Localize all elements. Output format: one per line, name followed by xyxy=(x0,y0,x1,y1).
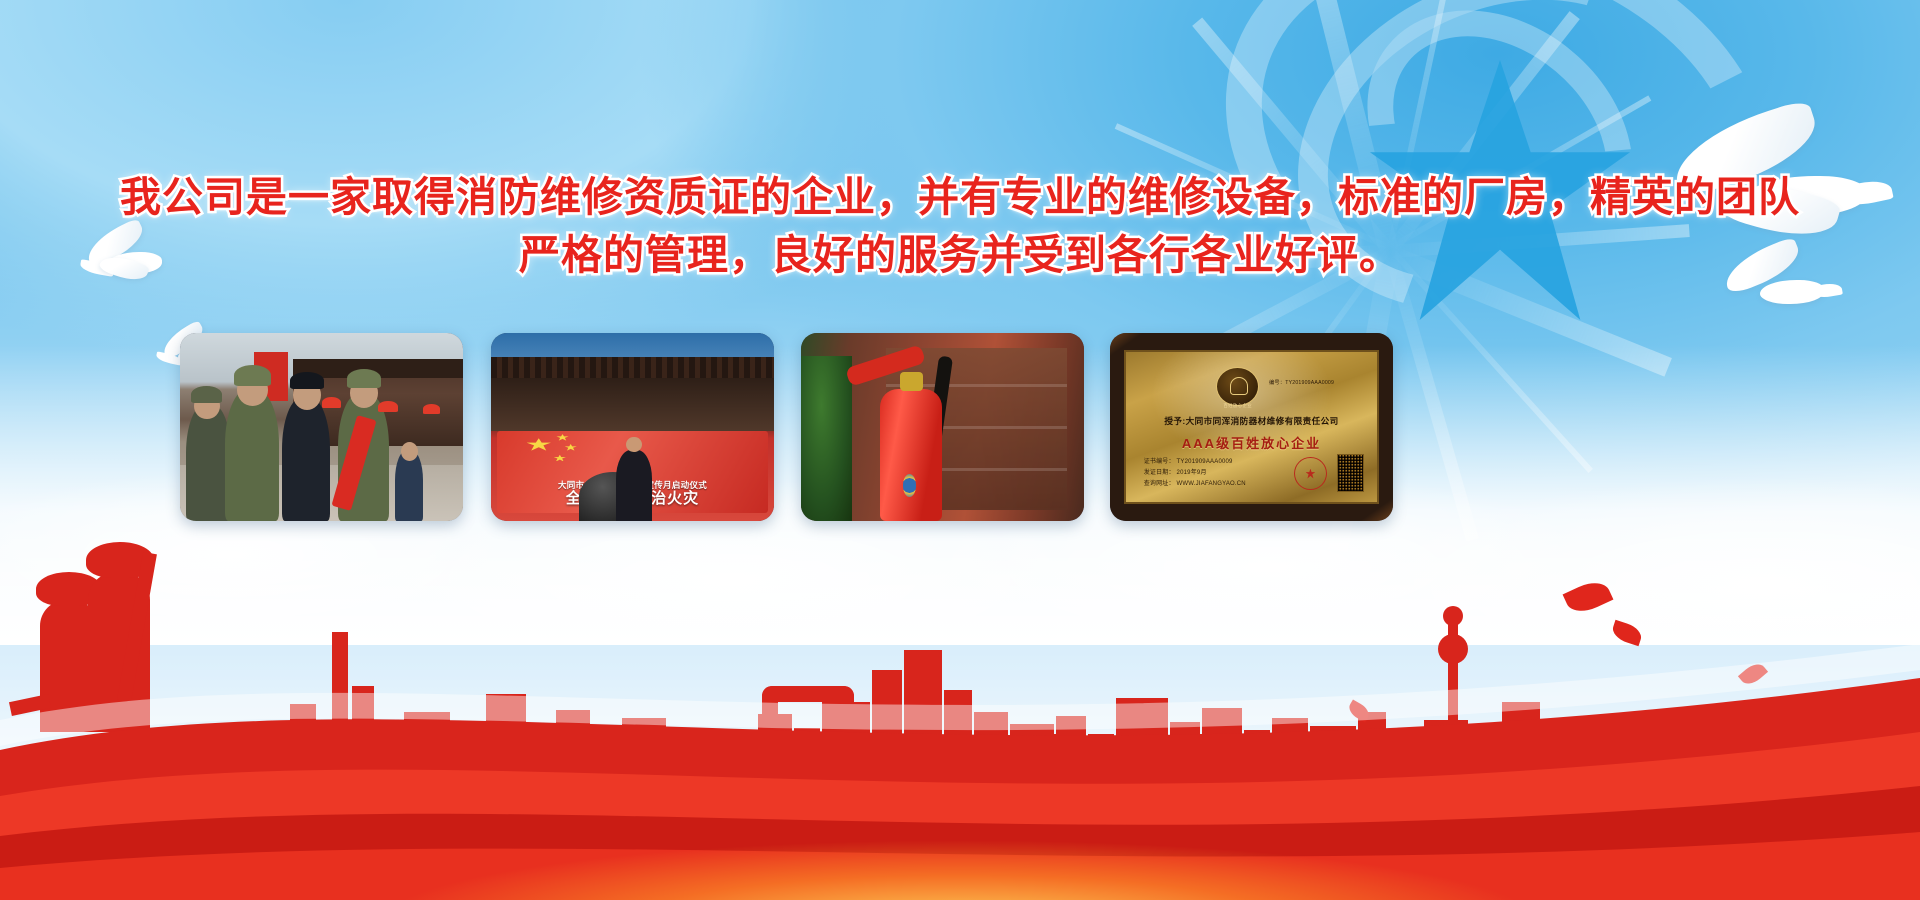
photo-officials-inspection[interactable] xyxy=(180,333,463,521)
photo-fire-extinguisher-image xyxy=(801,333,1084,521)
plaque-meta-website: 查询网址： WWW.JIAFANGYAO.CN xyxy=(1144,479,1246,490)
photo-strip: 大同市2018年119消防宣传月启动仪式 全民参与 防治火灾 百姓放心企业 xyxy=(0,333,1920,528)
bottom-glow xyxy=(0,780,1920,900)
plaque-meta-issue-date: 发证日期： 2019年9月 xyxy=(1144,468,1246,479)
plaque-title: AAA级百姓放心企业 xyxy=(1126,433,1377,452)
photo-fire-extinguisher[interactable] xyxy=(801,333,1084,521)
photo-119-campaign[interactable]: 大同市2018年119消防宣传月启动仪式 全民参与 防治火灾 xyxy=(491,333,774,521)
plaque-award-line: 授予:大同市同浑消防器材维修有限责任公司 xyxy=(1126,415,1377,427)
headline-line-1: 我公司是一家取得消防维修资质证的企业，并有专业的维修设备，标准的厂房，精英的团队 xyxy=(0,168,1920,226)
bottom-decoration xyxy=(0,480,1920,900)
photo-officials-inspection-image xyxy=(180,333,463,521)
plaque-qr-code xyxy=(1337,454,1365,492)
plaque-cert-no-top: 编号：TY201909AAA0009 xyxy=(1269,379,1334,386)
headline-block: 我公司是一家取得消防维修资质证的企业，并有专业的维修设备，标准的厂房，精英的团队… xyxy=(0,168,1920,284)
photo-119-campaign-image: 大同市2018年119消防宣传月启动仪式 全民参与 防治火灾 xyxy=(491,333,774,521)
plaque-seal-text: 百姓放心企业 xyxy=(1196,403,1279,409)
plaque-seal-icon xyxy=(1216,367,1259,406)
plaque-red-stamp-icon xyxy=(1294,457,1327,490)
banner-stage: 我公司是一家取得消防维修资质证的企业，并有专业的维修设备，标准的厂房，精英的团队… xyxy=(0,0,1920,900)
photo-aaa-plaque[interactable]: 百姓放心企业 编号：TY201909AAA0009 授予:大同市同浑消防器材维修… xyxy=(1110,333,1393,521)
plaque-meta: 证书编号： TY201909AAA0009 发证日期： 2019年9月 查询网址… xyxy=(1144,457,1246,490)
photo-aaa-plaque-image: 百姓放心企业 编号：TY201909AAA0009 授予:大同市同浑消防器材维修… xyxy=(1110,333,1393,521)
headline-line-2: 严格的管理，良好的服务并受到各行各业好评。 xyxy=(0,226,1920,284)
plaque-meta-cert-no: 证书编号： TY201909AAA0009 xyxy=(1144,457,1246,468)
